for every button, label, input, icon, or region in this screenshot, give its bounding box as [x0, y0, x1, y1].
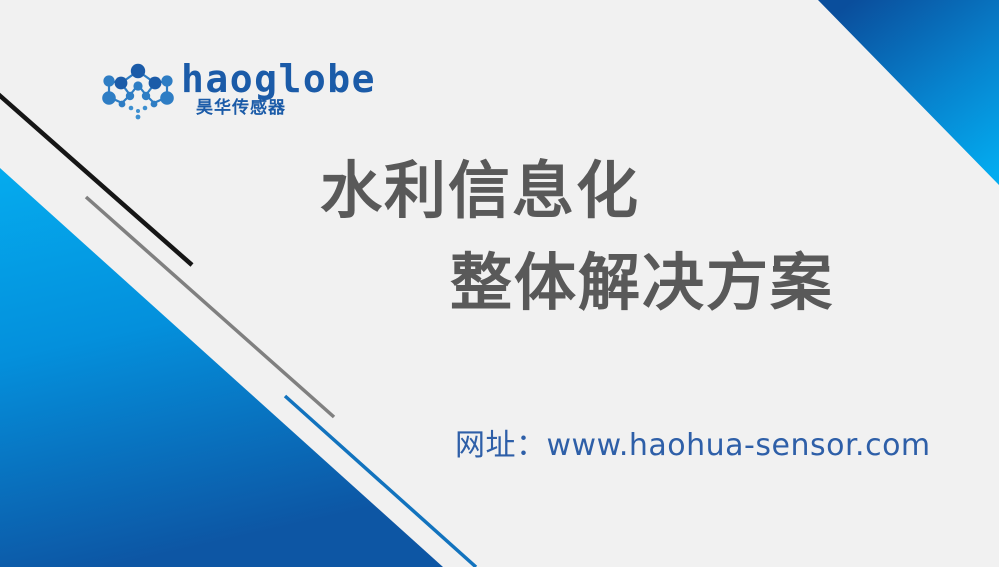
right-blue-triangle: [818, 0, 999, 185]
title-line-1: 水利信息化: [320, 160, 900, 222]
gray-diagonal-line: [86, 197, 334, 417]
haoglobe-network-dots-logo: [99, 59, 177, 121]
title-line-2: 整体解决方案: [450, 252, 900, 314]
website-line: 网址：www.haohua-sensor.com: [455, 420, 931, 464]
brand-logo: haoglobe 昊华传感器: [99, 57, 329, 125]
slide-title: 水利信息化 整体解决方案: [300, 160, 900, 314]
logo-subtext-chinese: 昊华传感器: [196, 100, 286, 117]
slide-root: haoglobe 昊华传感器 水利信息化 整体解决方案 网址：www.haohu…: [0, 0, 999, 567]
logo-wordmark: haoglobe: [181, 60, 376, 98]
website-label: 网址：: [455, 428, 547, 463]
blue-diagonal-line: [285, 396, 476, 567]
website-url[interactable]: www.haohua-sensor.com: [547, 428, 931, 463]
